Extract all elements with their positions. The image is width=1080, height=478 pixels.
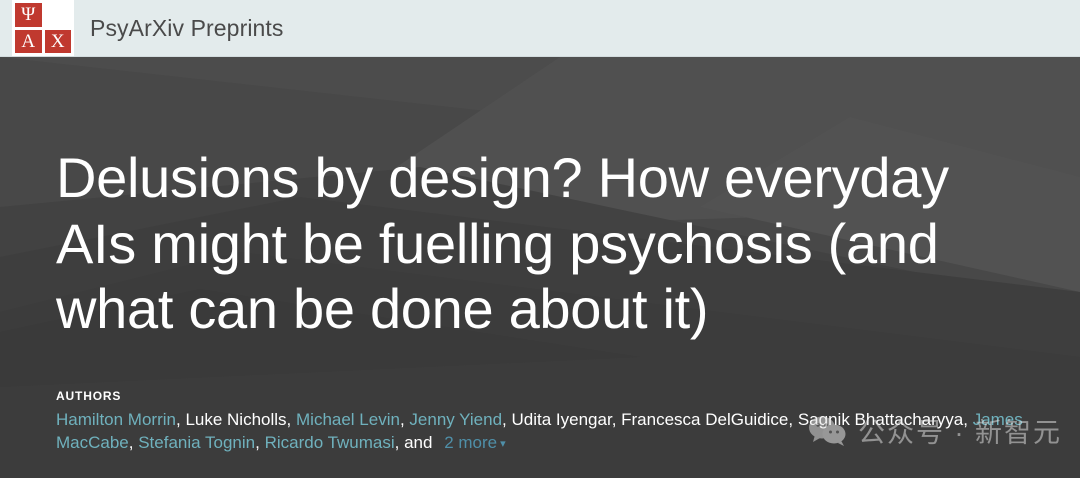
site-title[interactable]: PsyArXiv Preprints bbox=[90, 15, 284, 42]
authors-and-label: , and bbox=[395, 433, 433, 452]
author-separator: , bbox=[502, 410, 511, 429]
authors-block: AUTHORS Hamilton Morrin, Luke Nicholls, … bbox=[56, 389, 1066, 454]
author-separator: , bbox=[129, 433, 138, 452]
logo-a-icon: A bbox=[15, 30, 42, 54]
authors-label: AUTHORS bbox=[56, 389, 1066, 403]
author-name: Luke Nicholls bbox=[185, 410, 286, 429]
author-link[interactable]: Jenny Yiend bbox=[409, 410, 502, 429]
author-link[interactable]: Stefania Tognin bbox=[138, 433, 255, 452]
author-name: Francesca DelGuidice bbox=[621, 410, 788, 429]
author-separator: , bbox=[255, 433, 264, 452]
logo-psi-icon: Ψ bbox=[15, 3, 42, 27]
show-more-authors-button[interactable]: 2 more▾ bbox=[444, 433, 505, 452]
author-separator: , bbox=[612, 410, 621, 429]
hero-banner: Delusions by design? How everyday AIs mi… bbox=[0, 57, 1080, 478]
author-separator: , bbox=[788, 410, 797, 429]
author-link[interactable]: Michael Levin bbox=[296, 410, 400, 429]
author-separator: , bbox=[400, 410, 409, 429]
logo-x-icon: X bbox=[45, 30, 72, 54]
author-name: Sagnik Bhattacharyya bbox=[798, 410, 963, 429]
logo-blank-cell bbox=[45, 3, 72, 27]
page-title: Delusions by design? How everyday AIs mi… bbox=[56, 145, 1016, 342]
authors-list: Hamilton Morrin, Luke Nicholls, Michael … bbox=[56, 409, 1066, 454]
author-link[interactable]: Ricardo Twumasi bbox=[265, 433, 395, 452]
more-authors-label: 2 more bbox=[444, 433, 497, 452]
author-separator: , bbox=[287, 410, 296, 429]
psyarxiv-logo[interactable]: Ψ A X bbox=[12, 0, 74, 56]
author-separator: , bbox=[963, 410, 972, 429]
site-header: Ψ A X PsyArXiv Preprints bbox=[0, 0, 1080, 57]
author-link[interactable]: Hamilton Morrin bbox=[56, 410, 176, 429]
author-name: Udita Iyengar bbox=[512, 410, 612, 429]
chevron-down-icon: ▾ bbox=[500, 438, 506, 450]
